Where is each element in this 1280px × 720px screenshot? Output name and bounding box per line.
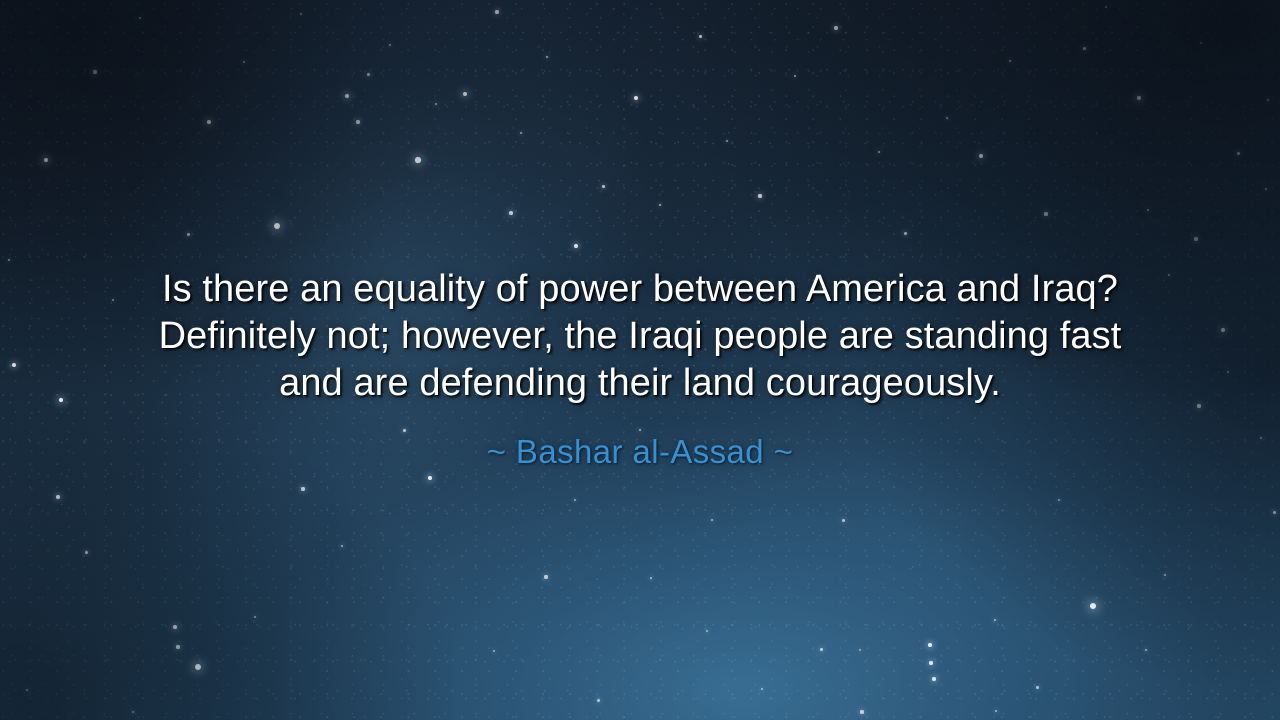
quote-block: Is there an equality of power between Am…: [0, 266, 1280, 471]
quote-image-canvas: Is there an equality of power between Am…: [0, 0, 1280, 720]
quote-text: Is there an equality of power between Am…: [60, 266, 1220, 407]
quote-attribution: ~ Bashar al-Assad ~: [60, 433, 1220, 471]
